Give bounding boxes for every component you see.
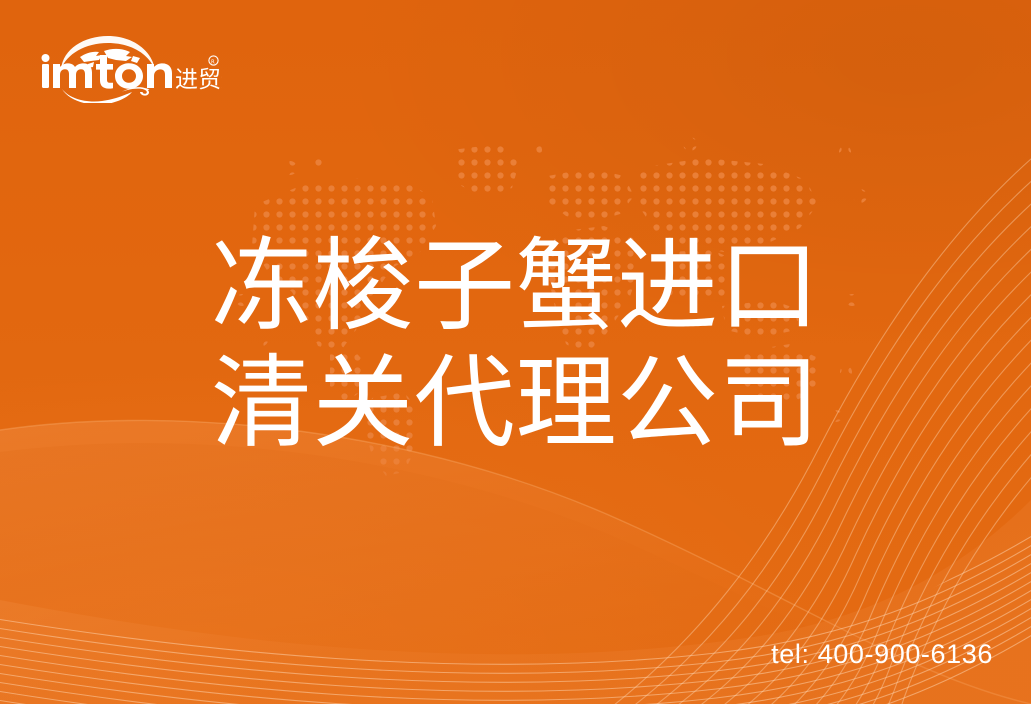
contact-phone[interactable]: tel: 400-900-6136: [771, 639, 993, 670]
logo-chinese-name: 进贸通: [175, 67, 222, 93]
headline-line-2: 清关代理公司: [211, 345, 851, 462]
promo-banner: 进贸通 R 冻梭子蟹进口 清关代理公司 tel: 400-900-6136: [0, 0, 1031, 704]
company-logo[interactable]: 进贸通 R: [36, 31, 222, 103]
logo-wordmark: [42, 54, 173, 89]
swoosh-icon: [62, 87, 150, 103]
registered-trademark-letter: R: [211, 59, 215, 65]
headline: 冻梭子蟹进口 清关代理公司: [211, 228, 851, 462]
headline-line-1: 冻梭子蟹进口: [211, 228, 851, 345]
